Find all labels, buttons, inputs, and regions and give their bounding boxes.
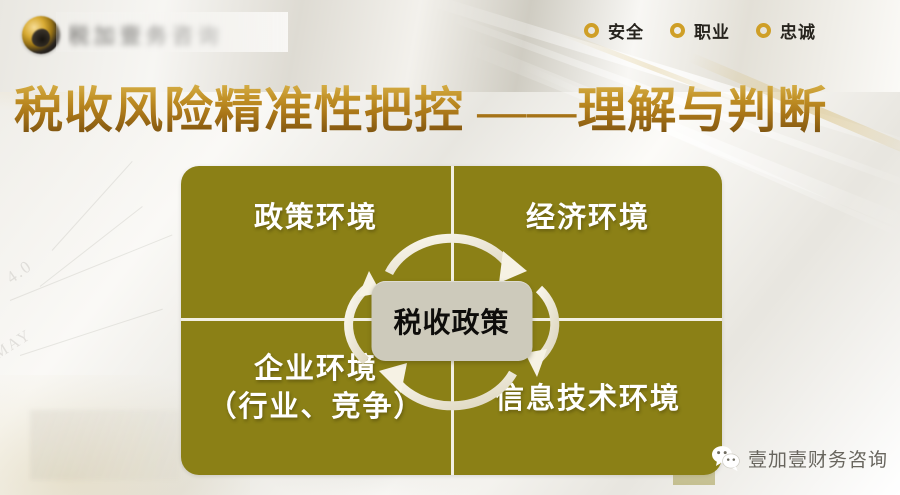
background-ghost-shape (30, 410, 180, 480)
gold-ring-icon (670, 23, 685, 38)
page-title: 税收风险精准性把控 ——理解与判断 (14, 82, 890, 140)
badge-profession: 职业 (670, 18, 730, 43)
slide-canvas: 4.0 MAY 税加壹务咨询 安全 职业 忠诚 税收风险精准性把控 ——理解与判… (0, 0, 900, 495)
quadrant-diagram: 政策环境 经济环境 企业环境 （行业、竞争） 信息技术环境 (181, 166, 722, 475)
wechat-watermark: 壹加壹财务咨询 (711, 443, 888, 473)
gold-ring-icon (756, 23, 771, 38)
wechat-icon (711, 443, 741, 473)
quadrant-label: 政策环境 (254, 198, 378, 236)
value-badges: 安全 职业 忠诚 (584, 18, 816, 43)
diagram-center-label: 税收政策 (393, 301, 509, 341)
watermark-olive-patch (673, 427, 715, 485)
logo-overlay-veil (56, 12, 288, 52)
badge-loyalty: 忠诚 (756, 18, 816, 43)
spiral-logo-icon (22, 16, 60, 54)
diagram-center-box[interactable]: 税收政策 (371, 281, 532, 361)
badge-safety: 安全 (584, 18, 644, 43)
quadrant-label: 经济环境 (526, 198, 650, 236)
badge-label: 职业 (694, 18, 730, 43)
badge-label: 安全 (608, 18, 644, 43)
watermark-label: 壹加壹财务咨询 (748, 445, 888, 472)
badge-label: 忠诚 (780, 18, 816, 43)
gold-ring-icon (584, 23, 599, 38)
quadrant-label: 信息技术环境 (495, 379, 681, 417)
